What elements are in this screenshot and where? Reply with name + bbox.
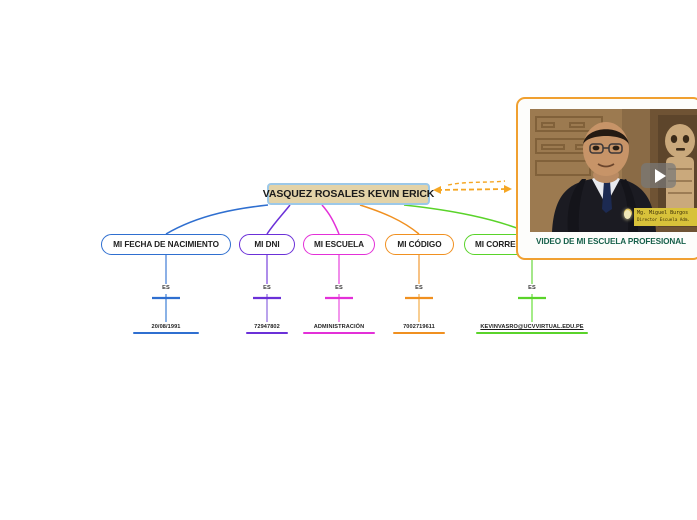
video-light-flare [624,210,631,219]
leaf-value: ADMINISTRACIÓN [303,324,375,330]
branch-node-fecha-nacimiento[interactable]: MI FECHA DE NACIMIENTO [101,234,231,255]
branch-node-label: MI DNI [254,240,279,249]
leaf-value: 7002719611 [393,324,445,330]
leaf-underline [393,332,445,334]
leaf-dni: 72947802 [246,324,288,334]
video-speaker-name: Mg. Miguel Burgos [637,210,697,216]
leaf-underline [476,332,588,334]
video-caption: VIDEO DE MI ESCUELA PROFESIONAL [518,237,697,246]
leaf-underline [303,332,375,334]
relation-tag-escuela: ES [333,285,345,291]
branch-node-escuela[interactable]: MI ESCUELA [303,234,375,255]
branch-node-label: MI CÓDIGO [397,240,441,249]
branch-node-dni[interactable]: MI DNI [239,234,295,255]
leaf-correo[interactable]: KEVINVASRO@UCVVIRTUAL.EDU.PE [476,324,588,334]
branch-node-label: MI FECHA DE NACIMIENTO [113,240,219,249]
leaf-fecha-nacimiento: 20/08/1991 [133,324,199,334]
relation-tag-fecha: ES [160,285,172,291]
relation-tag-dni: ES [261,285,273,291]
branch-node-label: MI CORREO [475,240,522,249]
video-panel[interactable]: Mg. Miguel Burgos Director Escuela Adm. … [516,97,697,260]
video-speaker-role: Director Escuela Adm. [637,217,697,222]
relation-tag-correo: ES [526,285,538,291]
video-play-button[interactable] [641,163,676,188]
relation-tag-codigo: ES [413,285,425,291]
root-node[interactable]: VASQUEZ ROSALES KEVIN ERICK [267,183,430,205]
branch-node-codigo[interactable]: MI CÓDIGO [385,234,454,255]
leaf-underline [133,332,199,334]
leaf-escuela: ADMINISTRACIÓN [303,324,375,334]
branch-node-label: MI ESCUELA [314,240,364,249]
leaf-value: 72947802 [246,324,288,330]
leaf-codigo: 7002719611 [393,324,445,334]
leaf-value: 20/08/1991 [133,324,199,330]
mindmap-canvas: VASQUEZ ROSALES KEVIN ERICK MI FECHA DE … [0,0,697,520]
root-node-label: VASQUEZ ROSALES KEVIN ERICK [263,188,435,200]
mindmap-edges [0,0,697,520]
video-speaker-overlay: Mg. Miguel Burgos Director Escuela Adm. [634,208,697,226]
leaf-value-email-link[interactable]: KEVINVASRO@UCVVIRTUAL.EDU.PE [476,324,588,330]
video-thumbnail[interactable]: Mg. Miguel Burgos Director Escuela Adm. [530,109,697,232]
play-triangle-icon [655,169,666,183]
leaf-underline [246,332,288,334]
